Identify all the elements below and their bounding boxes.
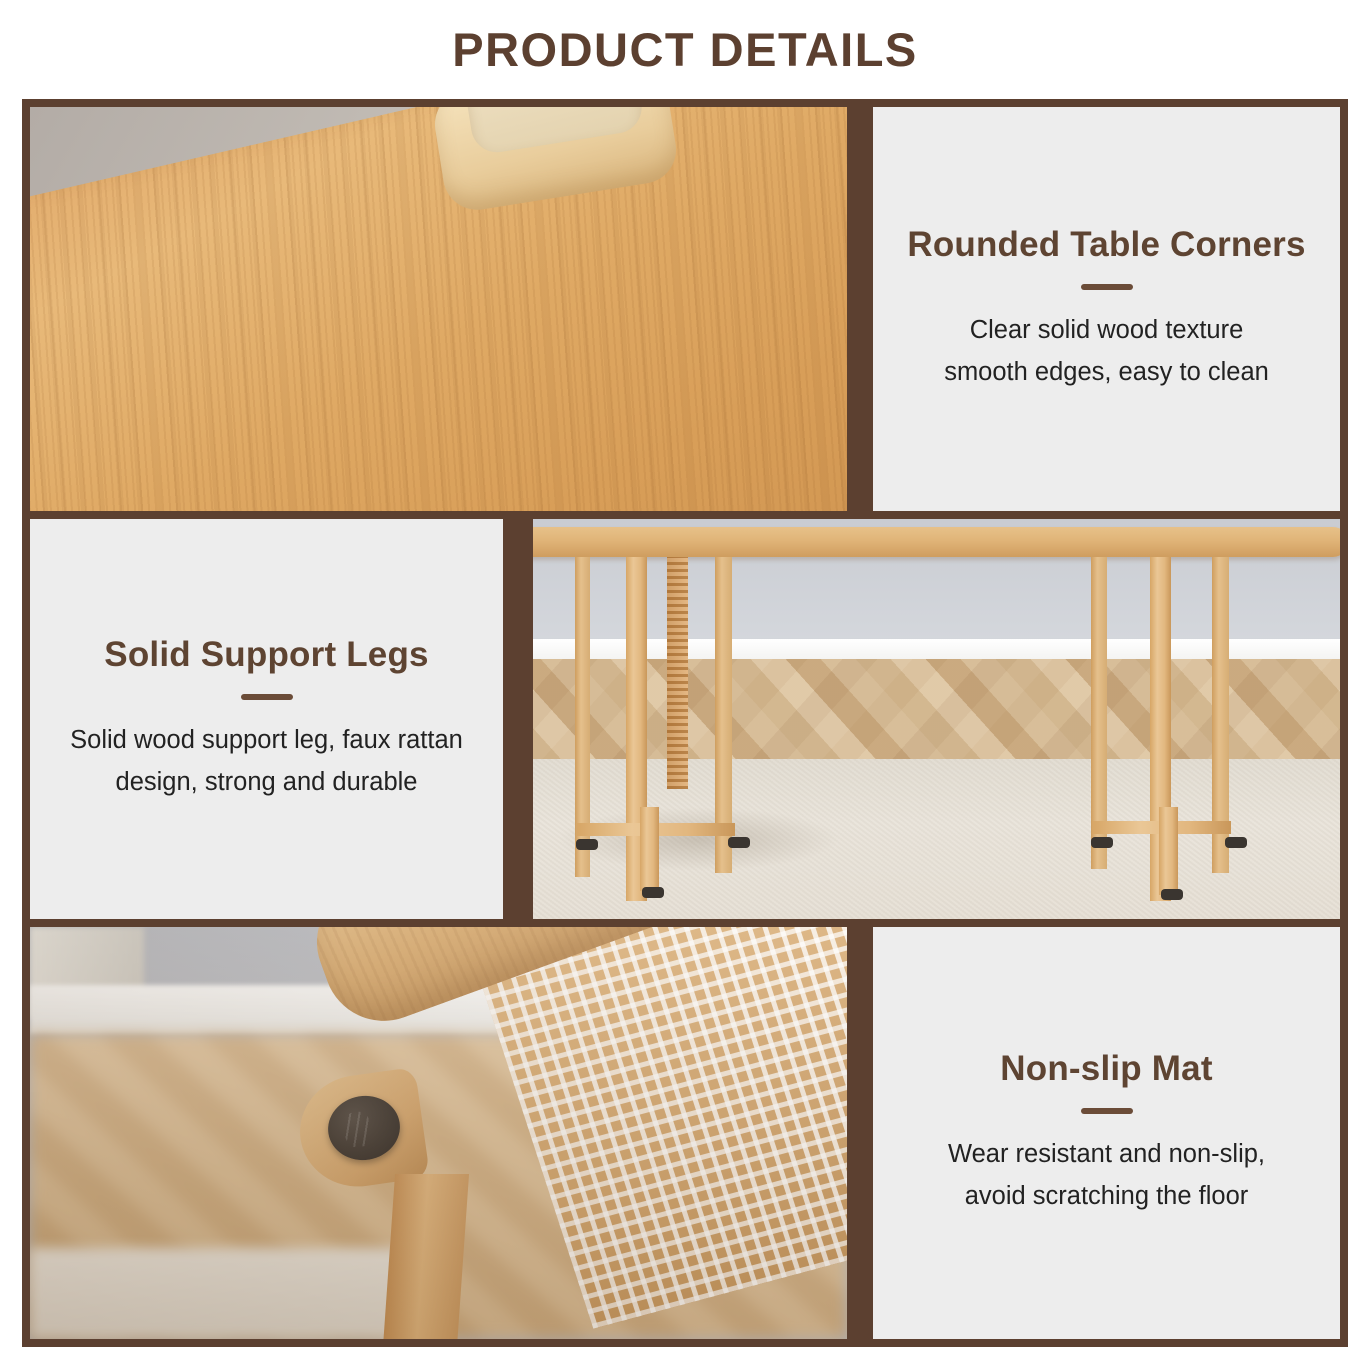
- tabletop-surface: [30, 107, 847, 511]
- feature-panel: Rounded Table Corners Clear solid wood t…: [873, 107, 1340, 511]
- feature-title: Solid Support Legs: [104, 635, 428, 675]
- leg-foot-pad: [576, 839, 598, 850]
- feature-text-non-slip-mat: Non-slip Mat Wear resistant and non-slip…: [873, 927, 1340, 1339]
- arrow-left-icon: [873, 1095, 874, 1171]
- feature-title: Non-slip Mat: [1000, 1049, 1212, 1089]
- tabletop-slab: [533, 527, 1340, 557]
- feature-photo-rounded-corners: [30, 107, 847, 511]
- feature-body-line-2: avoid scratching the floor: [965, 1176, 1249, 1217]
- arrow-right-icon: [502, 681, 503, 757]
- title-divider: [1081, 1108, 1133, 1114]
- feature-panel: Non-slip Mat Wear resistant and non-slip…: [873, 927, 1340, 1339]
- feature-body-line-1: Clear solid wood texture: [970, 310, 1244, 351]
- details-grid-frame: Rounded Table Corners Clear solid wood t…: [22, 99, 1348, 1347]
- leg-foot-pad: [1091, 837, 1113, 848]
- feature-text-support-legs: Solid Support Legs Solid wood support le…: [30, 519, 503, 919]
- table-corner-photo: [30, 107, 847, 511]
- leg-center-post: [1159, 807, 1178, 895]
- leg-post: [383, 1174, 469, 1339]
- page-title: PRODUCT DETAILS: [0, 22, 1370, 77]
- feature-panel: Solid Support Legs Solid wood support le…: [30, 519, 503, 919]
- feature-title: Rounded Table Corners: [907, 225, 1305, 265]
- rug-blur: [30, 1248, 406, 1339]
- feature-body-line-2: design, strong and durable: [116, 762, 418, 803]
- leg-center-post: [640, 807, 659, 891]
- title-divider: [241, 694, 293, 700]
- feature-photo-support-legs: [533, 519, 1340, 919]
- title-divider: [1081, 284, 1133, 290]
- support-legs-photo: [533, 519, 1340, 919]
- rattan-leg-strip: [667, 557, 688, 789]
- leg-shadow: [557, 807, 839, 871]
- feature-body-line-2: smooth edges, easy to clean: [944, 352, 1269, 393]
- leg-foot-pad: [1161, 889, 1183, 900]
- feature-photo-non-slip-mat: [30, 927, 847, 1339]
- leg-foot-pad: [728, 837, 750, 848]
- non-slip-mat-photo: [30, 927, 847, 1339]
- leg-foot-pad: [1225, 837, 1247, 848]
- feature-body-line-1: Wear resistant and non-slip,: [948, 1134, 1265, 1175]
- product-details-page: PRODUCT DETAILS Rounded Table Corners: [0, 0, 1370, 1370]
- feature-body-line-1: Solid wood support leg, faux rattan: [70, 720, 463, 761]
- leg-foot-pad: [642, 887, 664, 898]
- feature-text-rounded-corners: Rounded Table Corners Clear solid wood t…: [873, 107, 1340, 511]
- arrow-left-icon: [873, 271, 874, 347]
